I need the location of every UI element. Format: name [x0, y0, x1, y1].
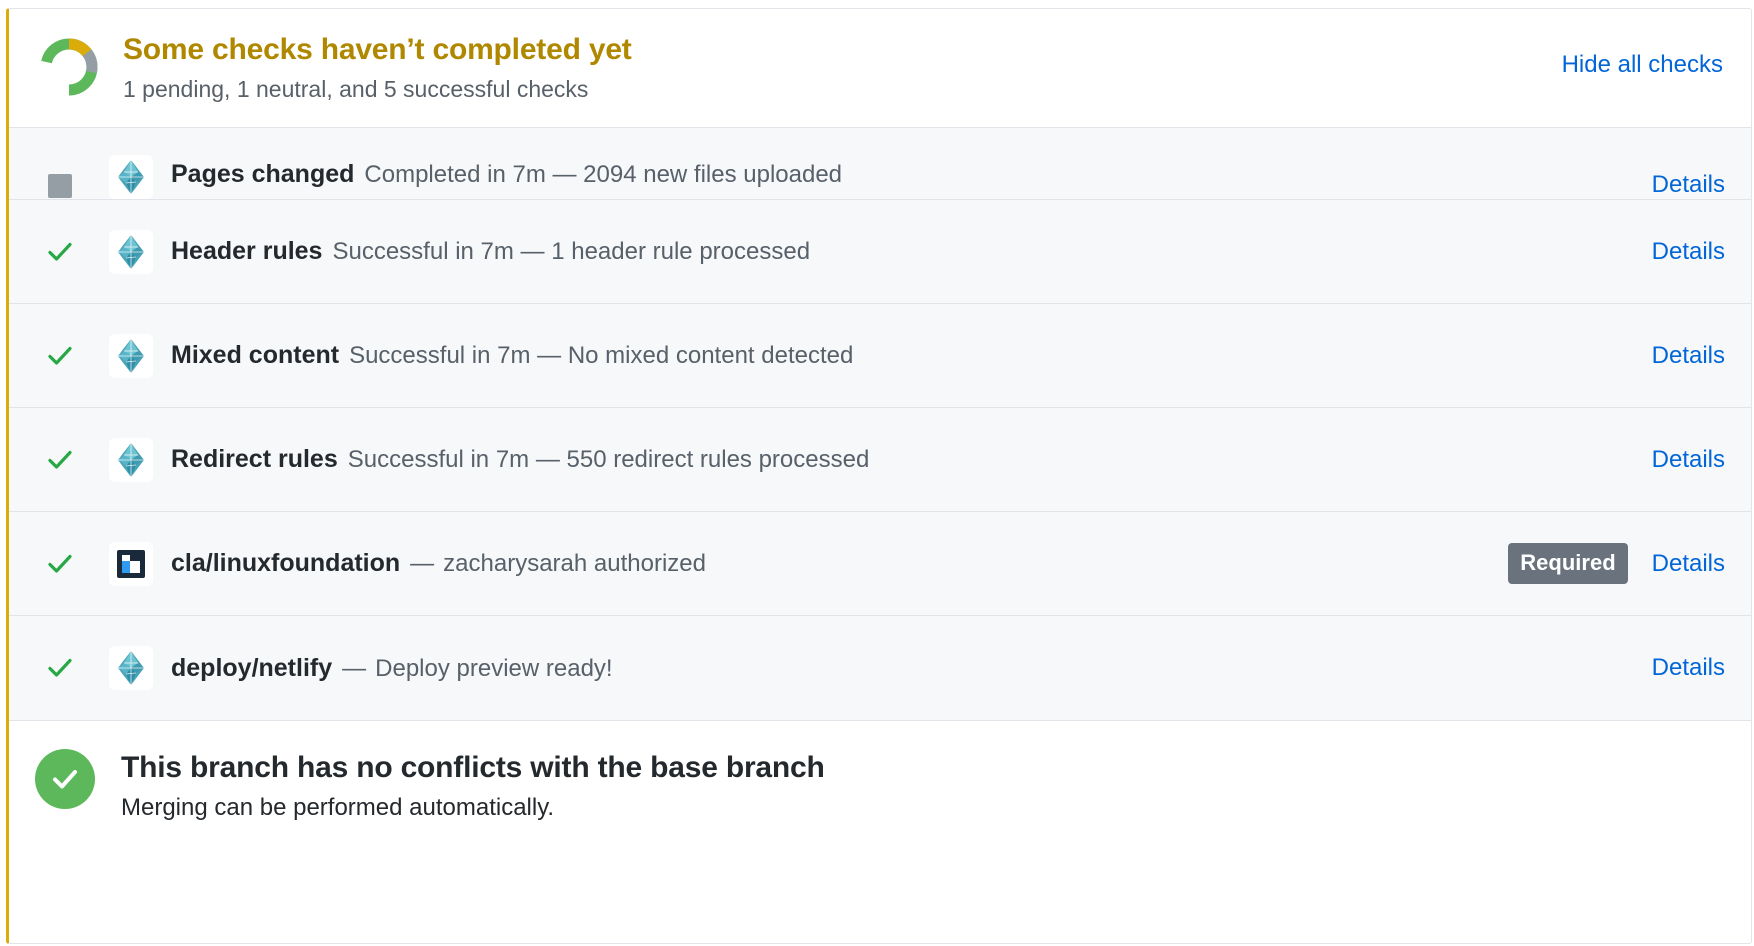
check-description: Completed in 7m — 2094 new files uploade… [364, 161, 842, 189]
netlify-logo-icon [109, 155, 153, 199]
check-description: Successful in 7m — No mixed content dete… [349, 342, 853, 370]
linuxfoundation-logo-icon [109, 542, 153, 586]
details-link[interactable]: Details [1652, 342, 1725, 370]
check-row[interactable]: Pages changed Completed in 7m — 2094 new… [9, 128, 1751, 200]
required-badge: Required [1508, 543, 1627, 584]
check-name: Mixed content [171, 341, 339, 370]
check-name: Pages changed [171, 160, 354, 189]
details-link[interactable]: Details [1652, 446, 1725, 474]
check-description: zacharysarah authorized [443, 550, 706, 578]
merge-status-title: This branch has no conflicts with the ba… [121, 749, 1725, 787]
check-description: Deploy preview ready! [375, 655, 612, 683]
check-description: Successful in 7m — 1 header rule process… [332, 238, 810, 266]
details-link[interactable]: Details [1652, 654, 1725, 682]
check-icon [37, 237, 83, 267]
check-row[interactable]: Header rules Successful in 7m — 1 header… [9, 200, 1751, 304]
check-row[interactable]: cla/linuxfoundation — zacharysarah autho… [9, 512, 1751, 616]
check-circle-icon [35, 749, 95, 809]
check-row[interactable]: Redirect rules Successful in 7m — 550 re… [9, 408, 1751, 512]
check-name: deploy/netlify [171, 654, 332, 683]
hide-all-checks-link[interactable]: Hide all checks [1562, 51, 1723, 79]
details-link[interactable]: Details [1652, 550, 1725, 578]
check-name: Header rules [171, 237, 322, 266]
checks-list: Pages changed Completed in 7m — 2094 new… [9, 127, 1751, 720]
checks-subtitle: 1 pending, 1 neutral, and 5 successful c… [123, 75, 1725, 105]
netlify-logo-icon [109, 438, 153, 482]
check-icon [37, 445, 83, 475]
checks-header: Some checks haven’t completed yet 1 pend… [9, 9, 1751, 127]
check-separator: — [410, 550, 434, 578]
merge-status-box: Some checks haven’t completed yet 1 pend… [6, 8, 1752, 944]
check-description: Successful in 7m — 550 redirect rules pr… [348, 446, 870, 474]
checks-title: Some checks haven’t completed yet [123, 31, 1725, 69]
check-name: Redirect rules [171, 445, 338, 474]
check-row[interactable]: deploy/netlify — Deploy preview ready! D… [9, 616, 1751, 720]
netlify-logo-icon [109, 334, 153, 378]
neutral-square-icon [37, 173, 83, 199]
details-link[interactable]: Details [1652, 238, 1725, 266]
details-link[interactable]: Details [1652, 171, 1725, 199]
checks-status-donut-icon [37, 35, 101, 99]
check-separator: — [342, 655, 366, 683]
check-name: cla/linuxfoundation [171, 549, 400, 578]
check-row[interactable]: Mixed content Successful in 7m — No mixe… [9, 304, 1751, 408]
check-icon [37, 653, 83, 683]
netlify-logo-icon [109, 230, 153, 274]
check-icon [37, 341, 83, 371]
netlify-logo-icon [109, 646, 153, 690]
merge-conflict-status: This branch has no conflicts with the ba… [9, 720, 1751, 853]
merge-status-subtitle: Merging can be performed automatically. [121, 792, 1725, 823]
check-icon [37, 549, 83, 579]
